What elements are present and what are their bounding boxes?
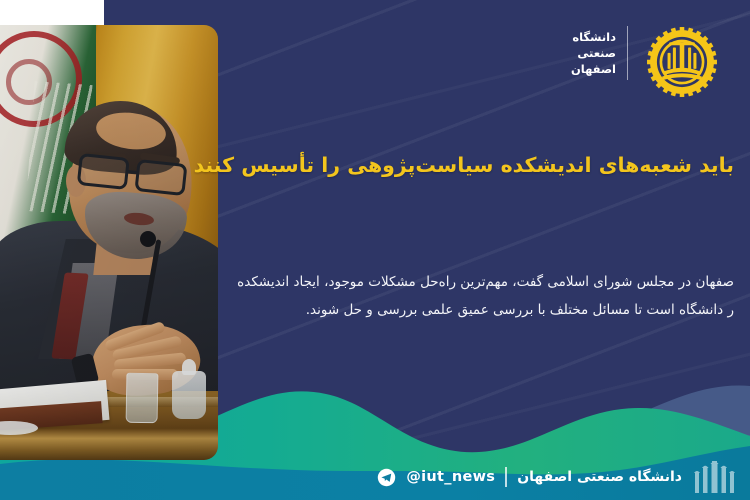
top-left-white-strip: [0, 0, 104, 25]
footer-social-handle[interactable]: @iut_news: [406, 469, 495, 485]
speaker-photo-card: [0, 25, 218, 460]
sugar-bowl-lid: [182, 359, 196, 375]
body-copy: صفهان در مجلس شورای اسلامی گفت، مهم‌ترین…: [0, 268, 734, 325]
brand-logo: دانشگاه صنعتی اصفهان: [571, 26, 628, 80]
footer-divider: [505, 467, 507, 487]
poster-canvas: دانشگاه صنعتی اصفهان: [0, 0, 750, 500]
brand-logo-line-1: دانشگاه: [571, 29, 616, 45]
drinking-glass-icon: [126, 373, 159, 424]
body-copy-line-1: صفهان در مجلس شورای اسلامی گفت، مهم‌ترین…: [0, 268, 734, 296]
speaker-photo: [0, 25, 218, 460]
sugar-bowl-icon: [172, 371, 206, 419]
vertical-divider-icon: [627, 26, 628, 80]
telegram-icon[interactable]: [377, 468, 396, 487]
isfahan-bridge-icon: [692, 460, 738, 494]
footer-bar: دانشگاه صنعتی اصفهان @iut_news: [0, 454, 750, 500]
brand-logo-line-2: صنعتی: [571, 45, 616, 61]
brand-logo-wordmark: دانشگاه صنعتی اصفهان: [571, 29, 616, 78]
headline: باید شعبه‌های اندیشکده سیاست‌پژوهی را تأ…: [0, 150, 734, 181]
body-copy-line-2: ر دانشگاه است تا مسائل مختلف با بررسی عم…: [0, 296, 734, 324]
brand-logo-line-3: اصفهان: [571, 61, 616, 77]
footer-university-name: دانشگاه صنعتی اصفهان: [517, 469, 682, 485]
microphone-head-icon: [140, 231, 156, 247]
iut-gear-emblem-icon: [644, 24, 720, 100]
